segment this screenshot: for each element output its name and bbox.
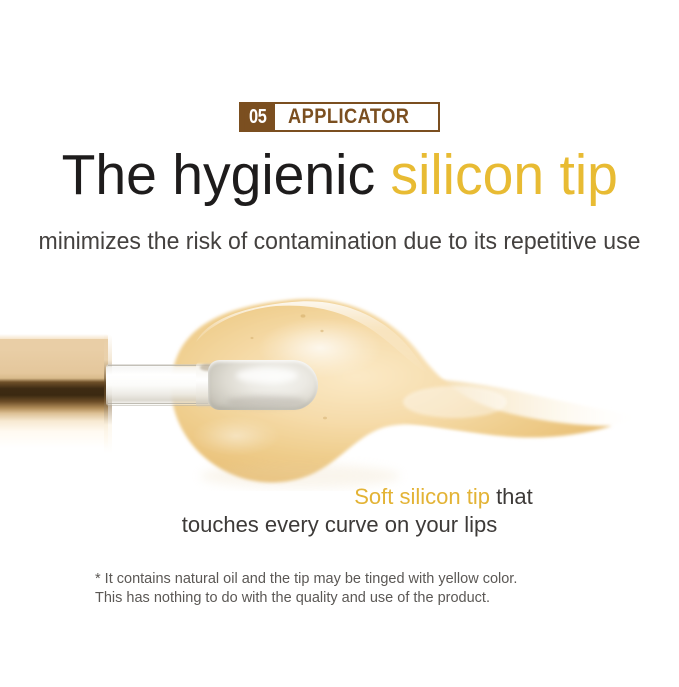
disclaimer-line-1: * It contains natural oil and the tip ma… [95,570,615,589]
gold-lipgloss-cap [0,334,108,464]
badge-number: 05 [244,104,272,130]
product-photo [0,276,679,491]
gel-gloss-streak [403,386,507,418]
feature-callout-line-1-inner: Soft silicon tip that [354,483,533,511]
badge-label: APPLICATOR [288,104,409,130]
feature-callout-dark: that [490,484,533,509]
wand-bottom-edge [108,403,208,404]
product-infographic-page: 05 APPLICATOR The hygienic silicon tip m… [0,0,679,687]
page-title-inner: The hygienic silicon tip [61,142,617,208]
disclaimer-line-2: This has nothing to do with the quality … [95,589,615,608]
silicone-tip-shadow [226,396,306,408]
page-subtitle: minimizes the risk of contamination due … [0,227,679,257]
feature-callout-gold: Soft silicon tip [354,484,490,509]
silicone-tip-highlight [236,368,298,383]
feature-callout: Soft silicon tip that touches every curv… [0,483,679,539]
page-title: The hygienic silicon tip [0,142,679,208]
section-badge-row: 05 APPLICATOR [0,102,679,132]
page-title-gold-part: silicon tip [390,143,617,207]
gel-speck [320,330,323,332]
feature-callout-line-2: touches every curve on your lips [0,511,679,539]
feature-callout-line-1: Soft silicon tip that [0,483,679,511]
disclaimer-note: * It contains natural oil and the tip ma… [95,570,615,608]
badge-number-block: 05 [241,104,277,130]
gel-speck [323,417,327,420]
gel-speck [301,314,306,317]
gel-speck [251,337,254,339]
gel-gloss-lower [192,416,280,456]
section-badge: 05 APPLICATOR [239,102,440,132]
page-subtitle-text: minimizes the risk of contamination due … [39,227,641,257]
badge-label-block: APPLICATOR [277,104,438,130]
page-title-dark-part: The hygienic [61,143,390,207]
